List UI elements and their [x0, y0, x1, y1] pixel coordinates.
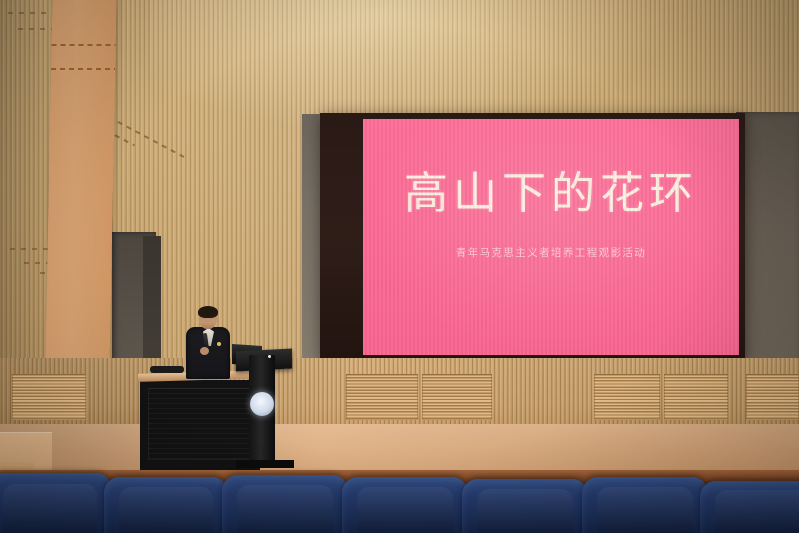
presenter-hand: [200, 347, 209, 355]
wall-vent-grille: [422, 374, 492, 420]
table-object-dark: [150, 366, 184, 373]
auditorium-scene: 高山下的花环 青年马克思主义者培养工程观影活动: [0, 0, 799, 533]
projection-screen-bezel: 高山下的花环 青年马克思主义者培养工程观影活动: [320, 113, 745, 360]
audience-seat: [104, 477, 228, 533]
stage-cabinet-panel: [148, 388, 252, 460]
ceiling-light-wash: [150, 0, 670, 130]
presenter-figure: [186, 307, 230, 377]
audience-seat: [582, 477, 708, 533]
institution-seal-emblem: [250, 392, 274, 416]
wall-vent-grille: [594, 374, 660, 420]
presenter-hair: [198, 306, 218, 318]
lectern-base: [236, 460, 294, 468]
audience-seat: [222, 475, 348, 533]
wall-slab-right-of-screen: [736, 112, 799, 370]
pillar-seam-lower: [51, 68, 115, 70]
presenter-lapel-badge: [217, 342, 221, 346]
wall-seam-horizontal-1: [8, 12, 52, 14]
wall-vent-grille: [664, 374, 728, 420]
pillar-seam-upper: [52, 44, 116, 46]
lectern-indicator-led: [268, 355, 271, 358]
screen-glow-overlay: [363, 119, 739, 355]
audience-seat: [462, 479, 588, 533]
audience-seat: [342, 477, 468, 533]
wall-vent-grille: [12, 374, 86, 420]
audience-seat: [0, 473, 112, 533]
slide-subtitle: 青年马克思主义者培养工程观影活动: [363, 245, 739, 260]
wall-vent-grille: [346, 374, 418, 420]
projection-screen-surface: 高山下的花环 青年马克思主义者培养工程观影活动: [363, 119, 739, 355]
slide-title: 高山下的花环: [363, 172, 739, 216]
audience-seat: [700, 481, 799, 533]
wall-vent-grille: [746, 374, 799, 420]
